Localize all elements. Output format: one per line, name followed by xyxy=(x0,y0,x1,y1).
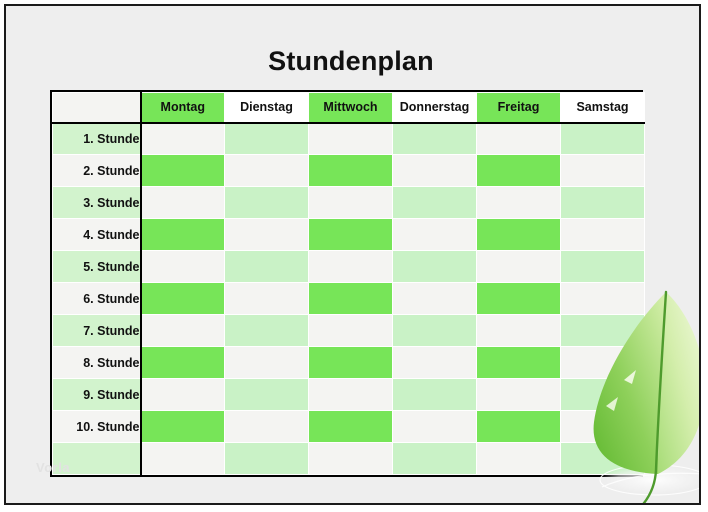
timetable-cell[interactable] xyxy=(561,187,645,219)
timetable-cell[interactable] xyxy=(477,411,561,443)
timetable-cell[interactable] xyxy=(309,187,393,219)
timetable-cell[interactable] xyxy=(561,283,645,315)
timetable-cell[interactable] xyxy=(225,315,309,347)
timetable-cell[interactable] xyxy=(225,283,309,315)
timetable-cell[interactable] xyxy=(561,315,645,347)
timetable-cell[interactable] xyxy=(393,411,477,443)
page-title: Stundenplan xyxy=(6,46,696,77)
timetable-row: 3. Stunde xyxy=(53,187,645,219)
timetable-cell[interactable] xyxy=(477,315,561,347)
timetable-row: 9. Stunde xyxy=(53,379,645,411)
timetable-row: 10. Stunde xyxy=(53,411,645,443)
timetable-col-header-samstag[interactable]: Samstag xyxy=(561,93,645,123)
timetable-cell[interactable] xyxy=(561,347,645,379)
timetable-cell[interactable] xyxy=(141,315,225,347)
timetable-cell[interactable] xyxy=(477,347,561,379)
timetable-row: 6. Stunde xyxy=(53,283,645,315)
timetable-cell[interactable] xyxy=(477,283,561,315)
timetable-cell[interactable] xyxy=(141,187,225,219)
timetable-col-header-mittwoch[interactable]: Mittwoch xyxy=(309,93,393,123)
timetable-cell[interactable] xyxy=(225,219,309,251)
timetable-cell[interactable] xyxy=(141,123,225,155)
timetable-cell[interactable] xyxy=(141,155,225,187)
timetable-cell[interactable] xyxy=(309,443,393,475)
timetable-cell[interactable] xyxy=(225,123,309,155)
timetable-cell[interactable] xyxy=(477,379,561,411)
row-label-2: 2. Stunde xyxy=(53,155,141,187)
timetable-col-header-freitag[interactable]: Freitag xyxy=(477,93,561,123)
timetable-cell[interactable] xyxy=(141,379,225,411)
timetable-header-row: MontagDienstagMittwochDonnerstagFreitagS… xyxy=(53,93,645,123)
timetable-cell[interactable] xyxy=(141,283,225,315)
timetable-col-header-dienstag[interactable]: Dienstag xyxy=(225,93,309,123)
timetable-cell[interactable] xyxy=(393,187,477,219)
timetable-cell[interactable] xyxy=(561,379,645,411)
timetable-cell[interactable] xyxy=(561,411,645,443)
timetable-cell[interactable] xyxy=(393,379,477,411)
timetable-cell[interactable] xyxy=(393,155,477,187)
timetable-cell[interactable] xyxy=(141,219,225,251)
timetable-cell[interactable] xyxy=(309,219,393,251)
timetable-cell[interactable] xyxy=(309,283,393,315)
timetable-cell[interactable] xyxy=(477,155,561,187)
timetable-cell[interactable] xyxy=(309,411,393,443)
timetable-body: 1. Stunde2. Stunde3. Stunde4. Stunde5. S… xyxy=(53,123,645,475)
timetable-cell[interactable] xyxy=(393,315,477,347)
timetable-col-header-montag[interactable]: Montag xyxy=(141,93,225,123)
row-label-1: 1. Stunde xyxy=(53,123,141,155)
timetable-row: 2. Stunde xyxy=(53,155,645,187)
timetable-cell[interactable] xyxy=(225,411,309,443)
timetable-cell[interactable] xyxy=(477,443,561,475)
timetable-col-header-donnerstag[interactable]: Donnerstag xyxy=(393,93,477,123)
timetable-cell[interactable] xyxy=(225,187,309,219)
row-label-4: 4. Stunde xyxy=(53,219,141,251)
feather-blade-right xyxy=(658,292,701,474)
timetable-cell[interactable] xyxy=(393,283,477,315)
timetable-cell[interactable] xyxy=(561,155,645,187)
timetable-cell[interactable] xyxy=(561,219,645,251)
timetable-cell[interactable] xyxy=(309,315,393,347)
timetable-corner-cell xyxy=(53,93,141,123)
slide-canvas: Stundenplan MontagDienstagMittwochDonner… xyxy=(4,4,701,505)
timetable-row: 8. Stunde xyxy=(53,347,645,379)
timetable-cell[interactable] xyxy=(225,155,309,187)
timetable-cell[interactable] xyxy=(393,251,477,283)
timetable-cell[interactable] xyxy=(141,443,225,475)
timetable-cell[interactable] xyxy=(561,123,645,155)
timetable-cell[interactable] xyxy=(225,347,309,379)
timetable-cell[interactable] xyxy=(477,251,561,283)
timetable-cell[interactable] xyxy=(309,251,393,283)
timetable-cell[interactable] xyxy=(477,187,561,219)
timetable-row: 1. Stunde xyxy=(53,123,645,155)
timetable-container: MontagDienstagMittwochDonnerstagFreitagS… xyxy=(50,90,643,477)
timetable-row: 5. Stunde xyxy=(53,251,645,283)
timetable-cell[interactable] xyxy=(393,347,477,379)
timetable-cell[interactable] xyxy=(309,123,393,155)
timetable-cell[interactable] xyxy=(141,347,225,379)
timetable-cell[interactable] xyxy=(393,219,477,251)
timetable-cell[interactable] xyxy=(561,443,645,475)
timetable-cell[interactable] xyxy=(141,411,225,443)
row-label-9: 9. Stunde xyxy=(53,379,141,411)
timetable-head: MontagDienstagMittwochDonnerstagFreitagS… xyxy=(53,93,645,123)
row-label-6: 6. Stunde xyxy=(53,283,141,315)
row-label-10: 10. Stunde xyxy=(53,411,141,443)
row-label-7: 7. Stunde xyxy=(53,315,141,347)
timetable-cell[interactable] xyxy=(477,123,561,155)
timetable-cell[interactable] xyxy=(393,443,477,475)
timetable: MontagDienstagMittwochDonnerstagFreitagS… xyxy=(52,92,645,475)
row-label-8: 8. Stunde xyxy=(53,347,141,379)
row-label-5: 5. Stunde xyxy=(53,251,141,283)
timetable-row: 4. Stunde xyxy=(53,219,645,251)
timetable-cell[interactable] xyxy=(225,443,309,475)
row-label-3: 3. Stunde xyxy=(53,187,141,219)
timetable-cell[interactable] xyxy=(141,251,225,283)
timetable-cell[interactable] xyxy=(393,123,477,155)
timetable-cell[interactable] xyxy=(225,251,309,283)
timetable-cell[interactable] xyxy=(309,347,393,379)
timetable-row: 7. Stunde xyxy=(53,315,645,347)
watermark-text: Vorla xyxy=(36,460,70,475)
timetable-cell[interactable] xyxy=(225,379,309,411)
timetable-row xyxy=(53,443,645,475)
timetable-cell[interactable] xyxy=(477,219,561,251)
timetable-cell[interactable] xyxy=(309,155,393,187)
timetable-cell[interactable] xyxy=(561,251,645,283)
timetable-cell[interactable] xyxy=(309,379,393,411)
